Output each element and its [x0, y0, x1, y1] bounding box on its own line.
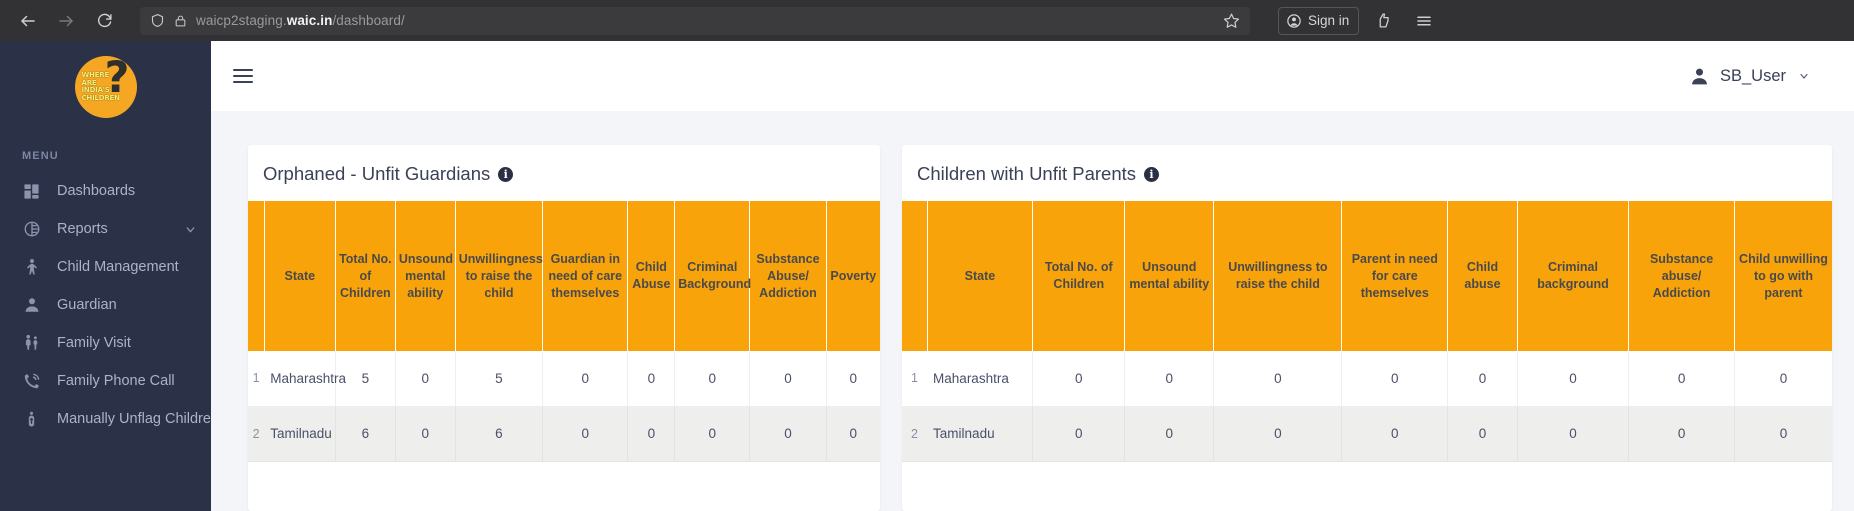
- browser-toolbar: waicp2staging.waic.in/dashboard/ Sign in: [0, 0, 1854, 41]
- table-body: 1 Maharashtra 0 0 0 0 0 0 0 0: [902, 351, 1832, 461]
- column-header[interactable]: Total No. of Children: [1033, 201, 1125, 351]
- shield-icon: [150, 13, 165, 28]
- cell-value: 0: [750, 406, 826, 461]
- table-row[interactable]: 1 Maharashtra 5 0 5 0 0 0 0 0: [248, 351, 880, 406]
- logo-line-4: CHILDREN: [82, 95, 120, 103]
- hamburger-menu-icon[interactable]: [233, 63, 259, 89]
- sidebar-item-label: Family Phone Call: [57, 373, 175, 389]
- cell-value: 0: [1033, 351, 1125, 406]
- sidebar-item-manually-unflag-children[interactable]: Manually Unflag Children: [0, 400, 211, 438]
- cell-value: 0: [675, 406, 750, 461]
- dashboard-content: Orphaned - Unfit Guardians i: [211, 111, 1854, 511]
- sidebar-item-child-management[interactable]: Child Management: [0, 248, 211, 286]
- cell-value: 0: [628, 351, 675, 406]
- cell-value: 0: [628, 406, 675, 461]
- pie-chart-icon: [22, 220, 41, 239]
- table-body: 1 Maharashtra 5 0 5 0 0 0 0 0: [248, 351, 880, 461]
- cell-state: Tamilnadu: [927, 406, 1033, 461]
- logo-text: WHERE ARE INDIA'S CHILDREN: [82, 72, 120, 102]
- table-head: State Total No. of Children Unsound ment…: [248, 201, 880, 351]
- url-text: waicp2staging.waic.in/dashboard/: [196, 13, 1214, 28]
- sidebar-item-label: Guardian: [57, 297, 117, 313]
- row-index-header: [902, 201, 927, 351]
- card-orphaned-unfit-guardians: Orphaned - Unfit Guardians i: [248, 145, 880, 511]
- card-children-with-unfit-parents: Children with Unfit Parents i: [902, 145, 1832, 511]
- cell-value: 0: [750, 351, 826, 406]
- column-header[interactable]: Poverty: [826, 201, 880, 351]
- cell-value: 0: [1734, 406, 1832, 461]
- forward-button[interactable]: [50, 5, 82, 37]
- card-title-text: Orphaned - Unfit Guardians: [263, 163, 490, 185]
- sidebar-item-dashboards[interactable]: Dashboards: [0, 172, 211, 210]
- account-circle-icon: [1286, 13, 1302, 29]
- user-name-label: SB_User: [1720, 67, 1786, 86]
- column-header[interactable]: Substance Abuse/ Addiction: [750, 201, 826, 351]
- orphaned-guardians-table: State Total No. of Children Unsound ment…: [248, 201, 880, 462]
- phone-call-icon: [22, 372, 41, 391]
- column-header[interactable]: Child Abuse: [628, 201, 675, 351]
- cell-value: 0: [1517, 406, 1628, 461]
- cell-value: 0: [1033, 406, 1125, 461]
- column-header[interactable]: Substance abuse/ Addiction: [1629, 201, 1735, 351]
- cell-state: Tamilnadu: [264, 406, 335, 461]
- url-path: /dashboard/: [332, 13, 404, 28]
- url-prefix: waicp2staging.: [196, 13, 287, 28]
- sidebar-item-family-phone-call[interactable]: Family Phone Call: [0, 362, 211, 400]
- child-icon: [22, 258, 41, 277]
- star-icon[interactable]: [1223, 12, 1240, 29]
- user-avatar-icon: [1689, 66, 1710, 87]
- column-header[interactable]: Child abuse: [1448, 201, 1518, 351]
- chevron-down-icon[interactable]: [184, 223, 197, 236]
- table-header-row: State Total No. of Children Unsound ment…: [902, 201, 1832, 351]
- card-title: Orphaned - Unfit Guardians i: [248, 163, 880, 201]
- table-head: State Total No. of Children Unsound ment…: [902, 201, 1832, 351]
- cell-value: 0: [1125, 351, 1214, 406]
- logo-container[interactable]: ? WHERE ARE INDIA'S CHILDREN: [0, 41, 211, 118]
- cell-value: 0: [1125, 406, 1214, 461]
- column-header[interactable]: Guardian in need of care themselves: [543, 201, 628, 351]
- column-header[interactable]: Unwillingness to raise the child: [1214, 201, 1342, 351]
- sidebar-item-label: Family Visit: [57, 335, 131, 351]
- cell-value: 0: [1214, 406, 1342, 461]
- table-row[interactable]: 1 Maharashtra 0 0 0 0 0 0 0 0: [902, 351, 1832, 406]
- reload-button[interactable]: [88, 5, 120, 37]
- table-container: State Total No. of Children Unsound ment…: [248, 201, 880, 462]
- cell-value: 0: [675, 351, 750, 406]
- column-header[interactable]: Child unwilling to go with parent: [1734, 201, 1832, 351]
- unfit-parents-table: State Total No. of Children Unsound ment…: [902, 201, 1832, 462]
- sidebar-item-label: Manually Unflag Children: [57, 411, 211, 427]
- table-container: State Total No. of Children Unsound ment…: [902, 201, 1832, 462]
- sidebar-item-label: Dashboards: [57, 183, 135, 199]
- cell-state: Maharashtra: [264, 351, 335, 406]
- cell-value: 0: [826, 406, 880, 461]
- table-header-row: State Total No. of Children Unsound ment…: [248, 201, 880, 351]
- row-index: 2: [248, 406, 264, 461]
- user-menu[interactable]: SB_User: [1689, 66, 1810, 87]
- family-visit-icon: [22, 334, 41, 353]
- cell-value: 0: [1214, 351, 1342, 406]
- menu-section-label: MENU: [0, 118, 211, 172]
- address-bar[interactable]: waicp2staging.waic.in/dashboard/: [140, 7, 1250, 35]
- cell-state: Maharashtra: [927, 351, 1033, 406]
- unflag-child-icon: [22, 410, 41, 429]
- cell-value: 0: [1448, 406, 1518, 461]
- column-header[interactable]: Unwillingness to raise the child: [455, 201, 542, 351]
- browser-menu-icon[interactable]: [1409, 6, 1439, 36]
- card-title-text: Children with Unfit Parents: [917, 163, 1136, 185]
- grid-dashboard-icon: [22, 182, 41, 201]
- main-area: SB_User Orphaned - Unfit Guardians i: [211, 41, 1854, 511]
- sidebar-item-label: Reports: [57, 221, 108, 237]
- cell-value: 0: [826, 351, 880, 406]
- info-icon[interactable]: i: [498, 167, 513, 182]
- column-header[interactable]: Parent in need for care themselves: [1342, 201, 1448, 351]
- column-header[interactable]: Criminal background: [1517, 201, 1628, 351]
- cell-value: 0: [1734, 351, 1832, 406]
- cell-value: 0: [1342, 351, 1448, 406]
- row-index-header: [248, 201, 264, 351]
- app-shell: ? WHERE ARE INDIA'S CHILDREN MENU Dashbo…: [0, 41, 1854, 511]
- sidebar-item-reports[interactable]: Reports: [0, 210, 211, 248]
- cell-value: 0: [395, 406, 455, 461]
- cell-value: 5: [455, 351, 542, 406]
- table-row[interactable]: 2 Tamilnadu 0 0 0 0 0 0 0 0: [902, 406, 1832, 461]
- sidebar: ? WHERE ARE INDIA'S CHILDREN MENU Dashbo…: [0, 41, 211, 511]
- cell-value: 6: [335, 406, 395, 461]
- row-index: 2: [902, 406, 927, 461]
- cell-value: 0: [1517, 351, 1628, 406]
- brand-logo-icon: ? WHERE ARE INDIA'S CHILDREN: [75, 56, 137, 118]
- cell-value: 0: [1629, 351, 1735, 406]
- info-icon[interactable]: i: [1144, 167, 1159, 182]
- sign-in-label: Sign in: [1308, 13, 1349, 28]
- app-header: SB_User: [211, 41, 1854, 111]
- sidebar-item-label: Child Management: [57, 259, 179, 275]
- row-index: 1: [248, 351, 264, 406]
- cell-value: 6: [455, 406, 542, 461]
- cell-value: 0: [1448, 351, 1518, 406]
- cell-value: 0: [395, 351, 455, 406]
- column-header[interactable]: State: [264, 201, 335, 351]
- cell-value: 0: [543, 406, 628, 461]
- column-header[interactable]: Criminal Background: [675, 201, 750, 351]
- cell-value: 0: [1629, 406, 1735, 461]
- table-row[interactable]: 2 Tamilnadu 6 0 6 0 0 0 0 0: [248, 406, 880, 461]
- sidebar-item-family-visit[interactable]: Family Visit: [0, 324, 211, 362]
- person-icon: [22, 296, 41, 315]
- column-header[interactable]: Unsound mental ability: [395, 201, 455, 351]
- row-index: 1: [902, 351, 927, 406]
- sign-in-button[interactable]: Sign in: [1278, 7, 1359, 35]
- cell-value: 0: [1342, 406, 1448, 461]
- back-button[interactable]: [12, 5, 44, 37]
- column-header[interactable]: Unsound mental ability: [1125, 201, 1214, 351]
- card-title: Children with Unfit Parents i: [902, 163, 1832, 201]
- column-header[interactable]: Total No. of Children: [335, 201, 395, 351]
- cell-value: 0: [543, 351, 628, 406]
- chevron-down-icon[interactable]: [1798, 70, 1810, 82]
- lock-icon: [174, 14, 187, 28]
- url-domain: waic.in: [287, 13, 333, 28]
- column-header[interactable]: State: [927, 201, 1033, 351]
- extensions-icon[interactable]: [1369, 6, 1399, 36]
- sidebar-item-guardian[interactable]: Guardian: [0, 286, 211, 324]
